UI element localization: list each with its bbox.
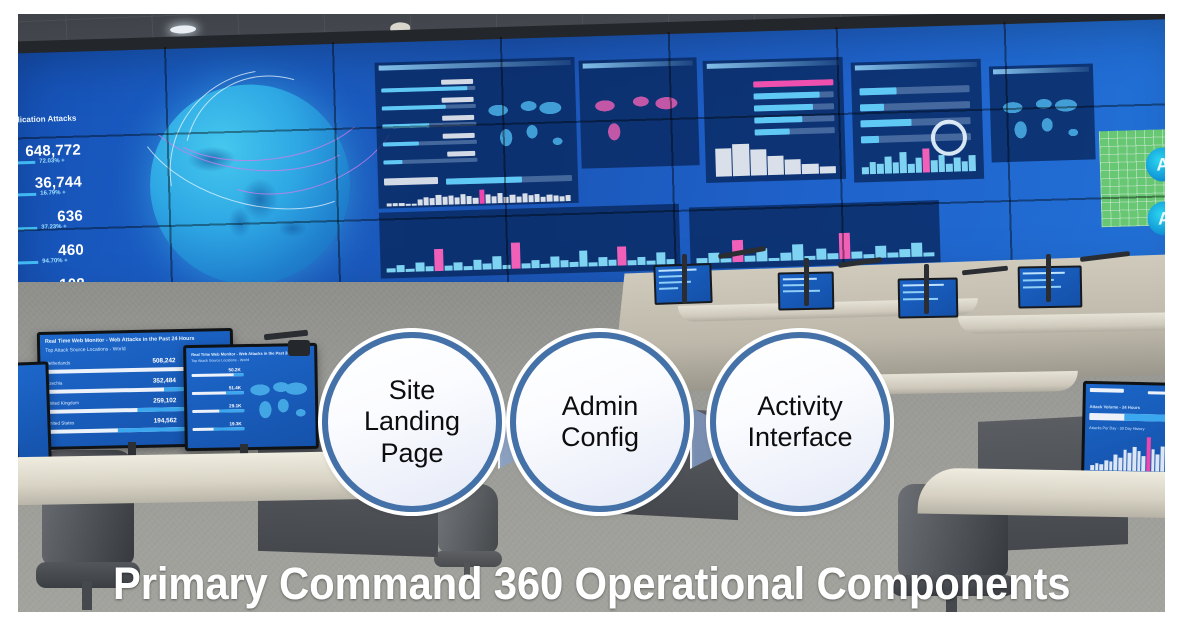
monitor-screen: Real Time Web Monitor - Web Attacks in t… xyxy=(186,346,316,448)
foreground-desk xyxy=(18,450,408,505)
row-bar xyxy=(192,409,244,413)
row-label: Netherlands xyxy=(45,360,70,366)
row-bar xyxy=(193,427,245,431)
attacks-per-day-bars xyxy=(1090,436,1165,472)
monitor-subtitle: Top Attack Source Locations - World xyxy=(191,358,249,363)
kpi-bar xyxy=(1089,413,1165,422)
page-title: Primary Command 360 Operational Componen… xyxy=(113,561,1070,606)
desk-monitor-right: Attack Volume - 24 Hours Attacks Per Day… xyxy=(1081,381,1165,483)
row-value: 194,562 xyxy=(154,417,177,424)
monitor-arm xyxy=(682,254,687,304)
row-value: 259,102 xyxy=(153,397,176,404)
row-bar xyxy=(192,391,244,395)
kpi-bar xyxy=(1148,391,1165,395)
row-value: 352,484 xyxy=(153,377,176,384)
row-value: 29.1K xyxy=(229,403,241,408)
row-value: 508,242 xyxy=(152,357,175,364)
desk-cabinet xyxy=(618,406,738,520)
monitor-arm xyxy=(1046,254,1051,302)
monitor-subtitle: Top Attack Source Locations - World xyxy=(45,346,126,354)
monitor-subtitle: Attacks Per Day - 30 Day History xyxy=(1089,426,1145,431)
row-bar xyxy=(192,373,244,377)
row-value: 19.3K xyxy=(229,421,241,426)
monitor-screen: Attack Volume - 24 Hours Attacks Per Day… xyxy=(1084,384,1165,480)
row-label: United Kingdom xyxy=(46,400,79,406)
monitor-screen xyxy=(18,365,49,458)
monitor-title: Attack Volume - 24 Hours xyxy=(1089,404,1140,410)
ceiling-light xyxy=(170,25,196,34)
desk xyxy=(958,312,1165,334)
world-map xyxy=(249,368,312,431)
kpi-bar xyxy=(1090,388,1124,393)
row-label: United States xyxy=(47,420,75,426)
operations-center-photo: Application Attacks 648,772 72.03% + 36,… xyxy=(18,14,1165,612)
monitor-arm xyxy=(804,258,809,306)
foreground-desk-right xyxy=(918,468,1165,519)
banner: Primary Command 360 Operational Componen… xyxy=(18,561,1165,606)
row-value: 51.4K xyxy=(229,385,241,390)
row-value: 50.2K xyxy=(228,367,240,372)
monitor-title: Real Time Web Monitor - Web Attacks in t… xyxy=(45,335,226,345)
desk-speaker xyxy=(288,340,310,356)
desk-monitor-left-3 xyxy=(18,361,52,460)
desk-monitor-left-2: Real Time Web Monitor - Web Attacks in t… xyxy=(183,343,319,451)
chair-back xyxy=(438,484,498,553)
monitor-arm xyxy=(924,264,929,314)
slide-root: Application Attacks 648,772 72.03% + 36,… xyxy=(0,0,1182,640)
ceiling-projector xyxy=(279,14,314,15)
